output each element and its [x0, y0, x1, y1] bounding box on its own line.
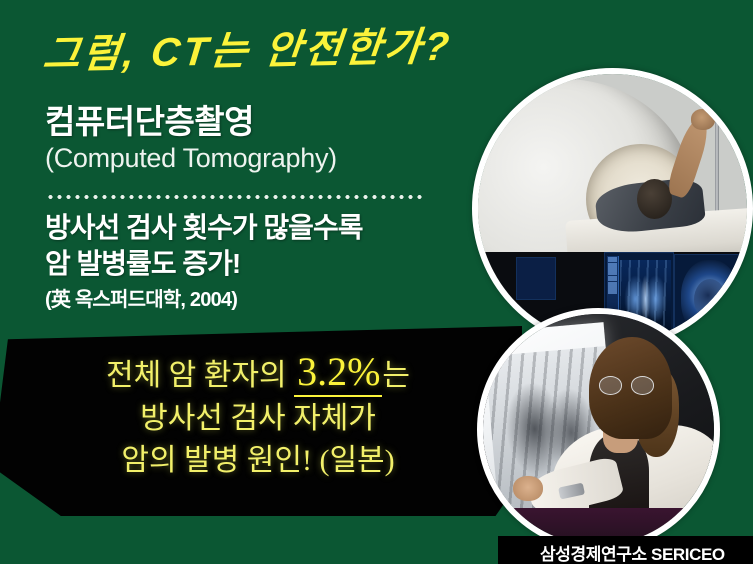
ct-scanner-scene: [478, 74, 747, 343]
percent-highlight: 3.2%: [294, 349, 382, 397]
heading-english: (Computed Tomography): [45, 142, 445, 174]
ct-patient-head-shape: [637, 179, 672, 219]
banner-line-1-prefix: 전체 암 환자의: [106, 359, 294, 392]
finding-block: 방사선 검사 횟수가 많을수록 암 발병률도 증가! (英 옥스퍼드대학, 20…: [45, 210, 455, 312]
glasses-icon: [599, 376, 654, 394]
banner-line-2: 방사선 검사 자체가: [18, 398, 498, 441]
banner-text-block: 전체 암 환자의 3.2%는 방사선 검사 자체가 암의 발병 원인! (일본): [18, 352, 498, 483]
monitor-small-shape: [516, 257, 556, 300]
finding-line-1: 방사선 검사 횟수가 많을수록: [45, 210, 455, 246]
banner-line-3: 암의 발병 원인! (일본): [18, 440, 498, 483]
slide-canvas: 그럼, CT는 안전한가? 컴퓨터단층촬영 (Computed Tomograp…: [0, 0, 753, 564]
banner-line-1: 전체 암 환자의 3.2%는: [18, 352, 498, 398]
heading-block: 컴퓨터단층촬영 (Computed Tomography): [45, 104, 445, 174]
ct-scanner-photo: [472, 68, 753, 349]
hand-shape: [513, 476, 543, 501]
page-title: 그럼, CT는 안전한가?: [41, 14, 456, 81]
doctor-reading-xray-photo: [477, 308, 720, 551]
finding-source: (英 옥스퍼드대학, 2004): [45, 283, 455, 312]
finding-line-2: 암 발병률도 증가!: [45, 246, 455, 282]
banner-line-1-suffix: 는: [382, 359, 410, 392]
footer-brand: 삼성경제연구소 SERICEO: [540, 540, 725, 564]
heading-korean: 컴퓨터단층촬영: [45, 104, 445, 141]
ct-patient-fist-shape: [691, 109, 715, 131]
dotted-divider: [46, 193, 424, 201]
doctor-scene: [483, 314, 714, 545]
